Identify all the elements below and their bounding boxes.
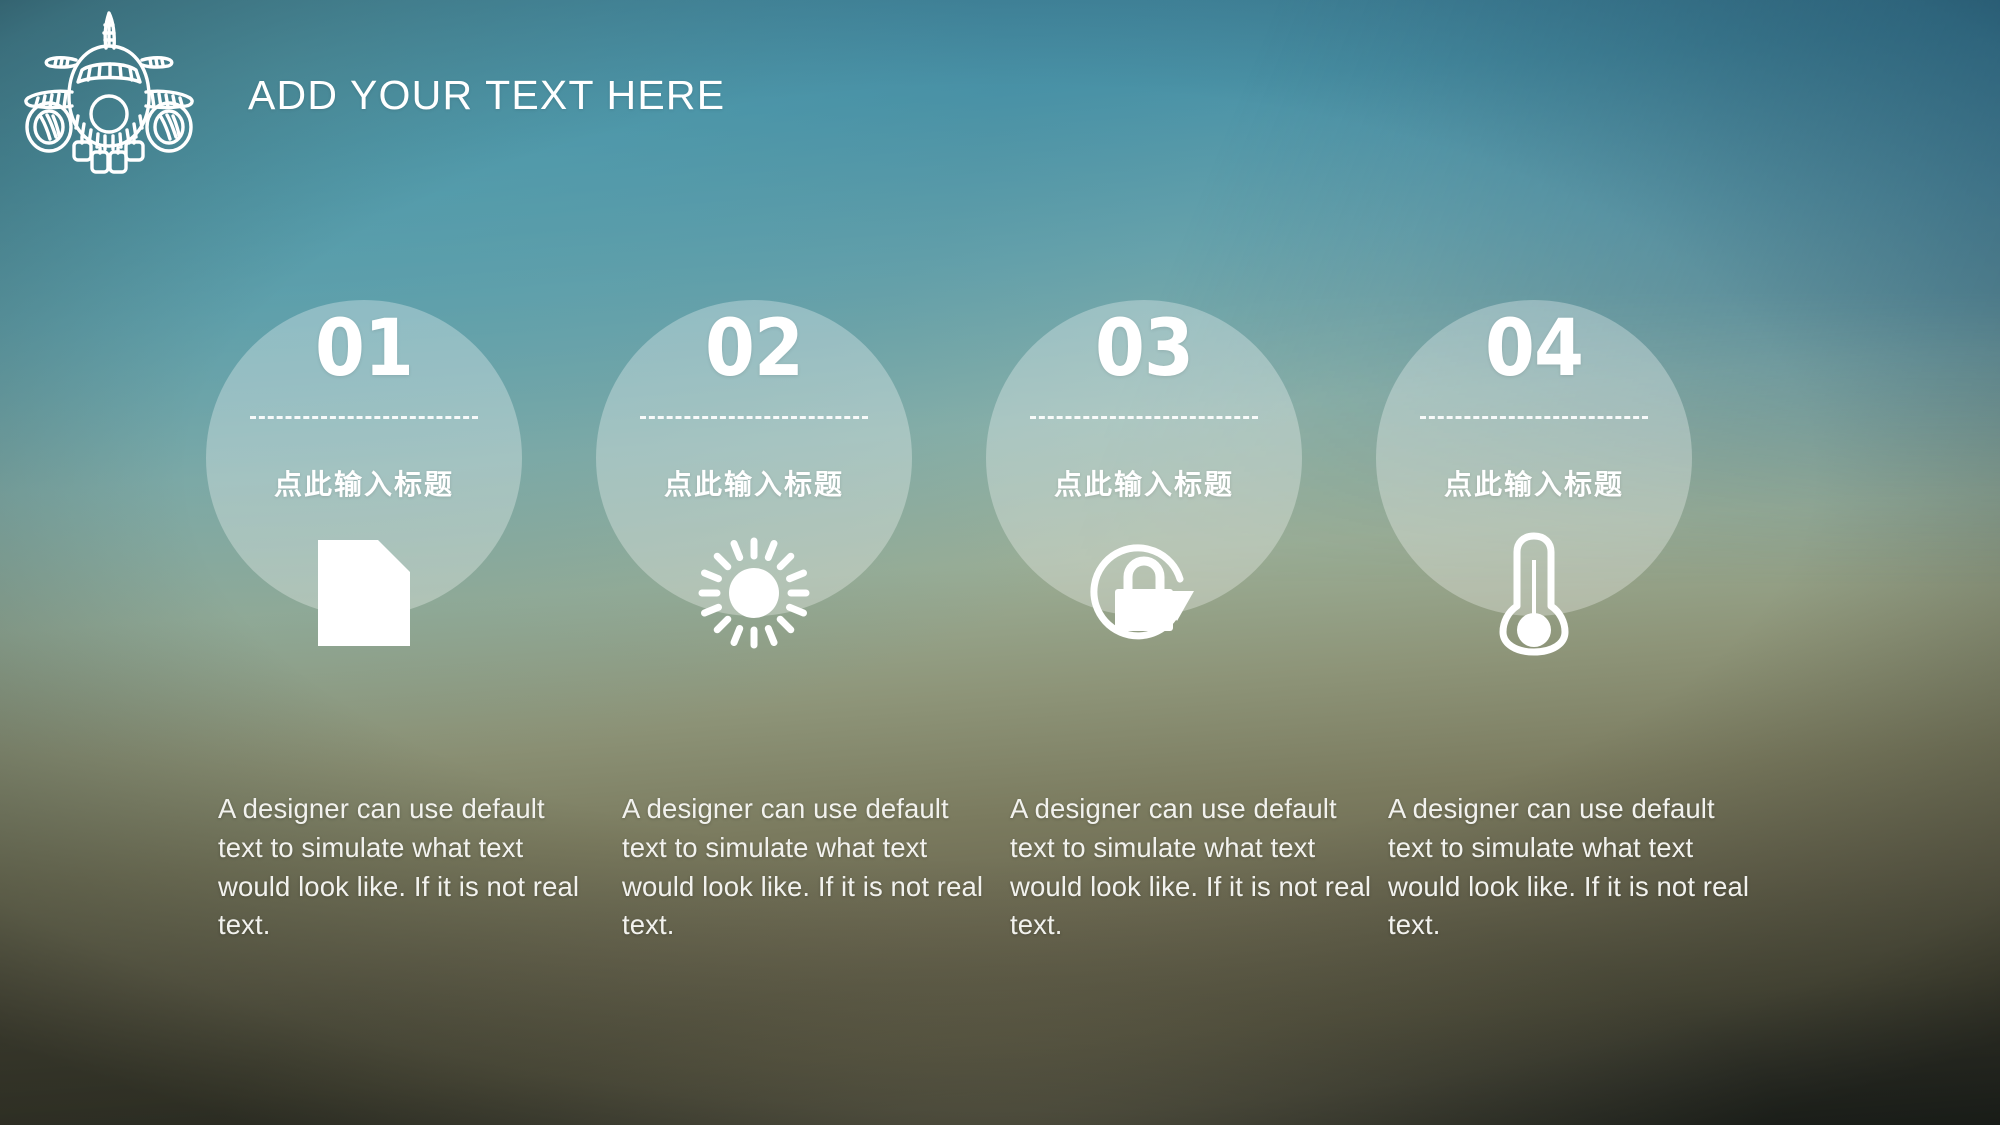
step-body-2: A designer can use default text to simul… [622, 790, 990, 945]
step-divider-2 [640, 416, 868, 419]
step-card-4: 04 点此输入标题 [1376, 300, 1692, 700]
step-number-3: 03 [999, 310, 1290, 388]
step-body-4: A designer can use default text to simul… [1388, 790, 1756, 945]
step-subtitle-1: 点此输入标题 [206, 463, 522, 503]
document-page-icon [206, 528, 522, 658]
sun-icon [596, 528, 912, 658]
step-card-1: 01 点此输入标题 [206, 300, 522, 700]
step-card-3: 03 点此输入标题 [986, 300, 1302, 700]
step-number-1: 01 [219, 310, 510, 388]
step-subtitle-2: 点此输入标题 [596, 463, 912, 503]
step-divider-1 [250, 416, 478, 419]
step-subtitle-3: 点此输入标题 [986, 463, 1302, 503]
step-number-4: 04 [1389, 310, 1680, 388]
step-body-3: A designer can use default text to simul… [1010, 790, 1378, 945]
lock-refresh-icon [986, 528, 1302, 658]
step-divider-4 [1420, 416, 1648, 419]
step-subtitle-4: 点此输入标题 [1376, 463, 1692, 503]
slide-canvas: ADD YOUR TEXT HERE 01 点此输入标题 02 点此输入标题 [0, 0, 2000, 1125]
step-divider-3 [1030, 416, 1258, 419]
step-card-2: 02 点此输入标题 [596, 300, 912, 700]
step-body-1: A designer can use default text to simul… [218, 790, 586, 945]
thermometer-icon [1376, 528, 1692, 658]
step-number-2: 02 [609, 310, 900, 388]
